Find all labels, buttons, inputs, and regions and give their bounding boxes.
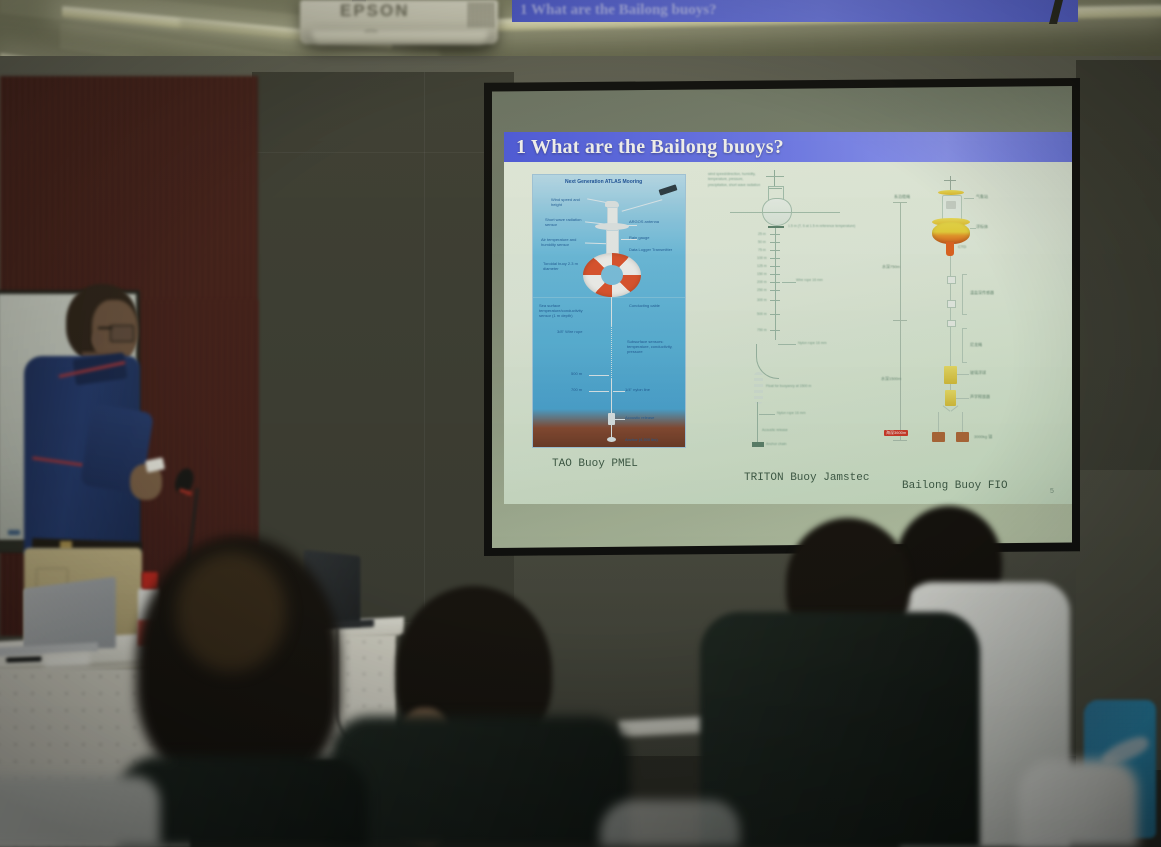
wall-panel-main [252, 152, 514, 622]
sea-surface-line [533, 297, 685, 298]
bailong-scale-label: 系泊缆绳 [894, 194, 910, 200]
glass-float-cluster [944, 366, 957, 384]
bailong-label: 温盐深传感器 [970, 290, 994, 296]
triton-depth: 25 m [758, 232, 766, 236]
projector-brand-label: EPSON [340, 1, 410, 21]
triton-label: Wire rope 16 mm [796, 278, 823, 282]
atlas-label: Conducting cable [629, 303, 677, 308]
satellite-icon [659, 184, 678, 195]
atlas-label: 3/8" Wire rope [557, 329, 597, 334]
caption-triton: TRITON Buoy Jamstec [744, 472, 869, 484]
bailong-bridle [938, 412, 939, 434]
projector-vent [468, 2, 494, 28]
triton-sensor [770, 330, 780, 331]
atlas-label: Air temperature and humidity sensor [541, 237, 587, 247]
triton-label: Float for buoyancy at 1500 m [766, 384, 811, 388]
triton-label: 1.5 m (T, S at 1.5 m reference temperatu… [788, 224, 855, 228]
bailong-met-mast [950, 176, 951, 190]
triton-crossarm [766, 176, 784, 177]
atlas-label: Toroidal buoy 2.3 m diameter [543, 261, 587, 271]
atlas-depth-label: 500 m [571, 371, 582, 376]
triton-depth: 75 m [758, 248, 766, 252]
triton-sensor [770, 266, 780, 267]
triton-sensor [770, 282, 780, 283]
wall-seam [252, 152, 514, 153]
secondary-display-title: 1 What are the Bailong buoys? [520, 2, 717, 19]
triton-waterline [730, 212, 840, 213]
caption-tao: TAO Buoy PMEL [552, 458, 638, 470]
bailong-label: 浮标体 [976, 224, 988, 230]
atlas-label: Wind speed and height [551, 197, 591, 207]
triton-mast [774, 170, 775, 186]
triton-sensor [770, 242, 780, 243]
silver-laptop-lid [23, 577, 115, 650]
bailong-label: 3000kg 锚 [974, 434, 992, 440]
powerpoint-slide: 1 What are the Bailong buoys? Next Gener… [504, 132, 1072, 504]
bailong-buoy-hull [932, 222, 970, 244]
triton-label: Acoustic release [762, 428, 788, 432]
triton-leader [782, 282, 796, 283]
atlas-label: 1/4" nylon line [625, 387, 650, 392]
bailong-anchor [932, 432, 945, 442]
audience-shoulder [1018, 760, 1138, 847]
triton-depth: 125 m [757, 264, 767, 268]
glasses-bridge [98, 327, 112, 329]
triton-label: wind speed/direction, humidity, temperat… [708, 172, 764, 188]
presenter-glasses [110, 325, 134, 342]
buoy-center [601, 265, 623, 285]
bailong-label: 声学释放器 [970, 394, 990, 400]
acoustic-release [945, 390, 956, 406]
bailong-label: CTD [958, 244, 966, 249]
conference-room-photo: 1 What are the Bailong buoys? EPSON 1 Wh… [0, 0, 1161, 847]
atlas-label: Subsurface sensors: temperature, conduct… [627, 339, 677, 354]
triton-sensor [770, 290, 780, 291]
audience-body [330, 716, 630, 847]
wall-panel-upper [252, 72, 514, 152]
bailong-label: 气象站 [976, 194, 988, 200]
acoustic-release [608, 413, 615, 425]
atlas-label: Data Logger Transmitter [629, 247, 675, 252]
mooring-line [611, 297, 612, 325]
bailong-label: 尼龙绳 [970, 342, 982, 348]
slide-body: Next Generation ATLAS Mooring Wind speed… [504, 162, 1072, 504]
hair-highlight [176, 552, 286, 672]
triton-sensor [770, 314, 780, 315]
triton-label: Anchor chain [766, 442, 786, 446]
caption-bailong: Bailong Buoy FIO [902, 480, 1008, 492]
conducting-cable [611, 325, 612, 379]
atlas-depth-label: 700 m [571, 387, 582, 392]
bailong-bridle [962, 412, 963, 434]
bailong-label: 玻璃浮球 [970, 370, 986, 376]
triton-mooring-line [775, 228, 776, 340]
anchor [607, 437, 616, 442]
triton-depth: 250 m [757, 288, 767, 292]
atlas-mooring-diagram: Next Generation ATLAS Mooring Wind speed… [532, 174, 686, 448]
slide-title: 1 What are the Bailong buoys? [504, 136, 784, 159]
triton-depth: 500 m [757, 312, 767, 316]
slide-page-number: 5 [1050, 488, 1054, 495]
triton-depth: 300 m [757, 298, 767, 302]
atlas-diagram-heading: Next Generation ATLAS Mooring [565, 179, 642, 185]
bailong-scale-label: 水深1500m [881, 376, 901, 382]
triton-mooring-diagram: wind speed/direction, humidity, temperat… [704, 166, 884, 451]
secondary-display: 1 What are the Bailong buoys? [512, 0, 1078, 22]
projector-body-lower [312, 30, 488, 44]
bailong-scale-label: 水深750m [882, 264, 900, 270]
depth-scale-bar [900, 202, 901, 440]
triton-sensor [770, 234, 780, 235]
paper-sheet [44, 653, 90, 667]
triton-leader [759, 414, 775, 415]
triton-label: Nylon rope 16 mm [798, 341, 827, 345]
bailong-mooring-diagram: 系泊缆绳 水深750m 水深1500m 海深3600m 气象站 浮标体 [876, 168, 1066, 450]
triton-sensor [770, 300, 780, 301]
triton-depth: 200 m [757, 280, 767, 284]
audience-shoulder [0, 776, 160, 847]
audience-shoulder [600, 800, 740, 847]
triton-depth: 150 m [757, 272, 767, 276]
triton-sensor [770, 258, 780, 259]
triton-leader [778, 344, 796, 345]
instrument-platform [595, 223, 629, 230]
bailong-anchor [956, 432, 969, 442]
atlas-label: Short wave radiation sensor [545, 217, 587, 227]
presenter-ear [92, 332, 104, 347]
atlas-label: Acoustic release [625, 415, 654, 420]
bailong-depth-badge: 海深3600m [884, 430, 908, 436]
triton-sensor [770, 274, 780, 275]
triton-depth: 100 m [757, 256, 767, 260]
triton-sensor [768, 226, 784, 228]
atlas-label: Sea surface temperature/conductivity sen… [539, 303, 589, 318]
triton-depth: 50 m [758, 240, 766, 244]
whiteboard-marker [8, 530, 20, 535]
slide-title-bar: 1 What are the Bailong buoys? [504, 132, 1072, 162]
wall-seam [424, 72, 425, 622]
triton-mooring-line [757, 402, 758, 444]
atlas-label: Anchor (4,500 lbs) [625, 437, 658, 442]
mooring-line [611, 379, 612, 439]
atlas-label: ARGOS antenna [629, 219, 673, 224]
triton-label: Nylon rope 16 mm [777, 411, 806, 415]
triton-sensor [770, 250, 780, 251]
triton-depth: 750 m [757, 328, 767, 332]
audience-body [700, 612, 980, 847]
projection-screen: 1 What are the Bailong buoys? Next Gener… [492, 86, 1072, 548]
